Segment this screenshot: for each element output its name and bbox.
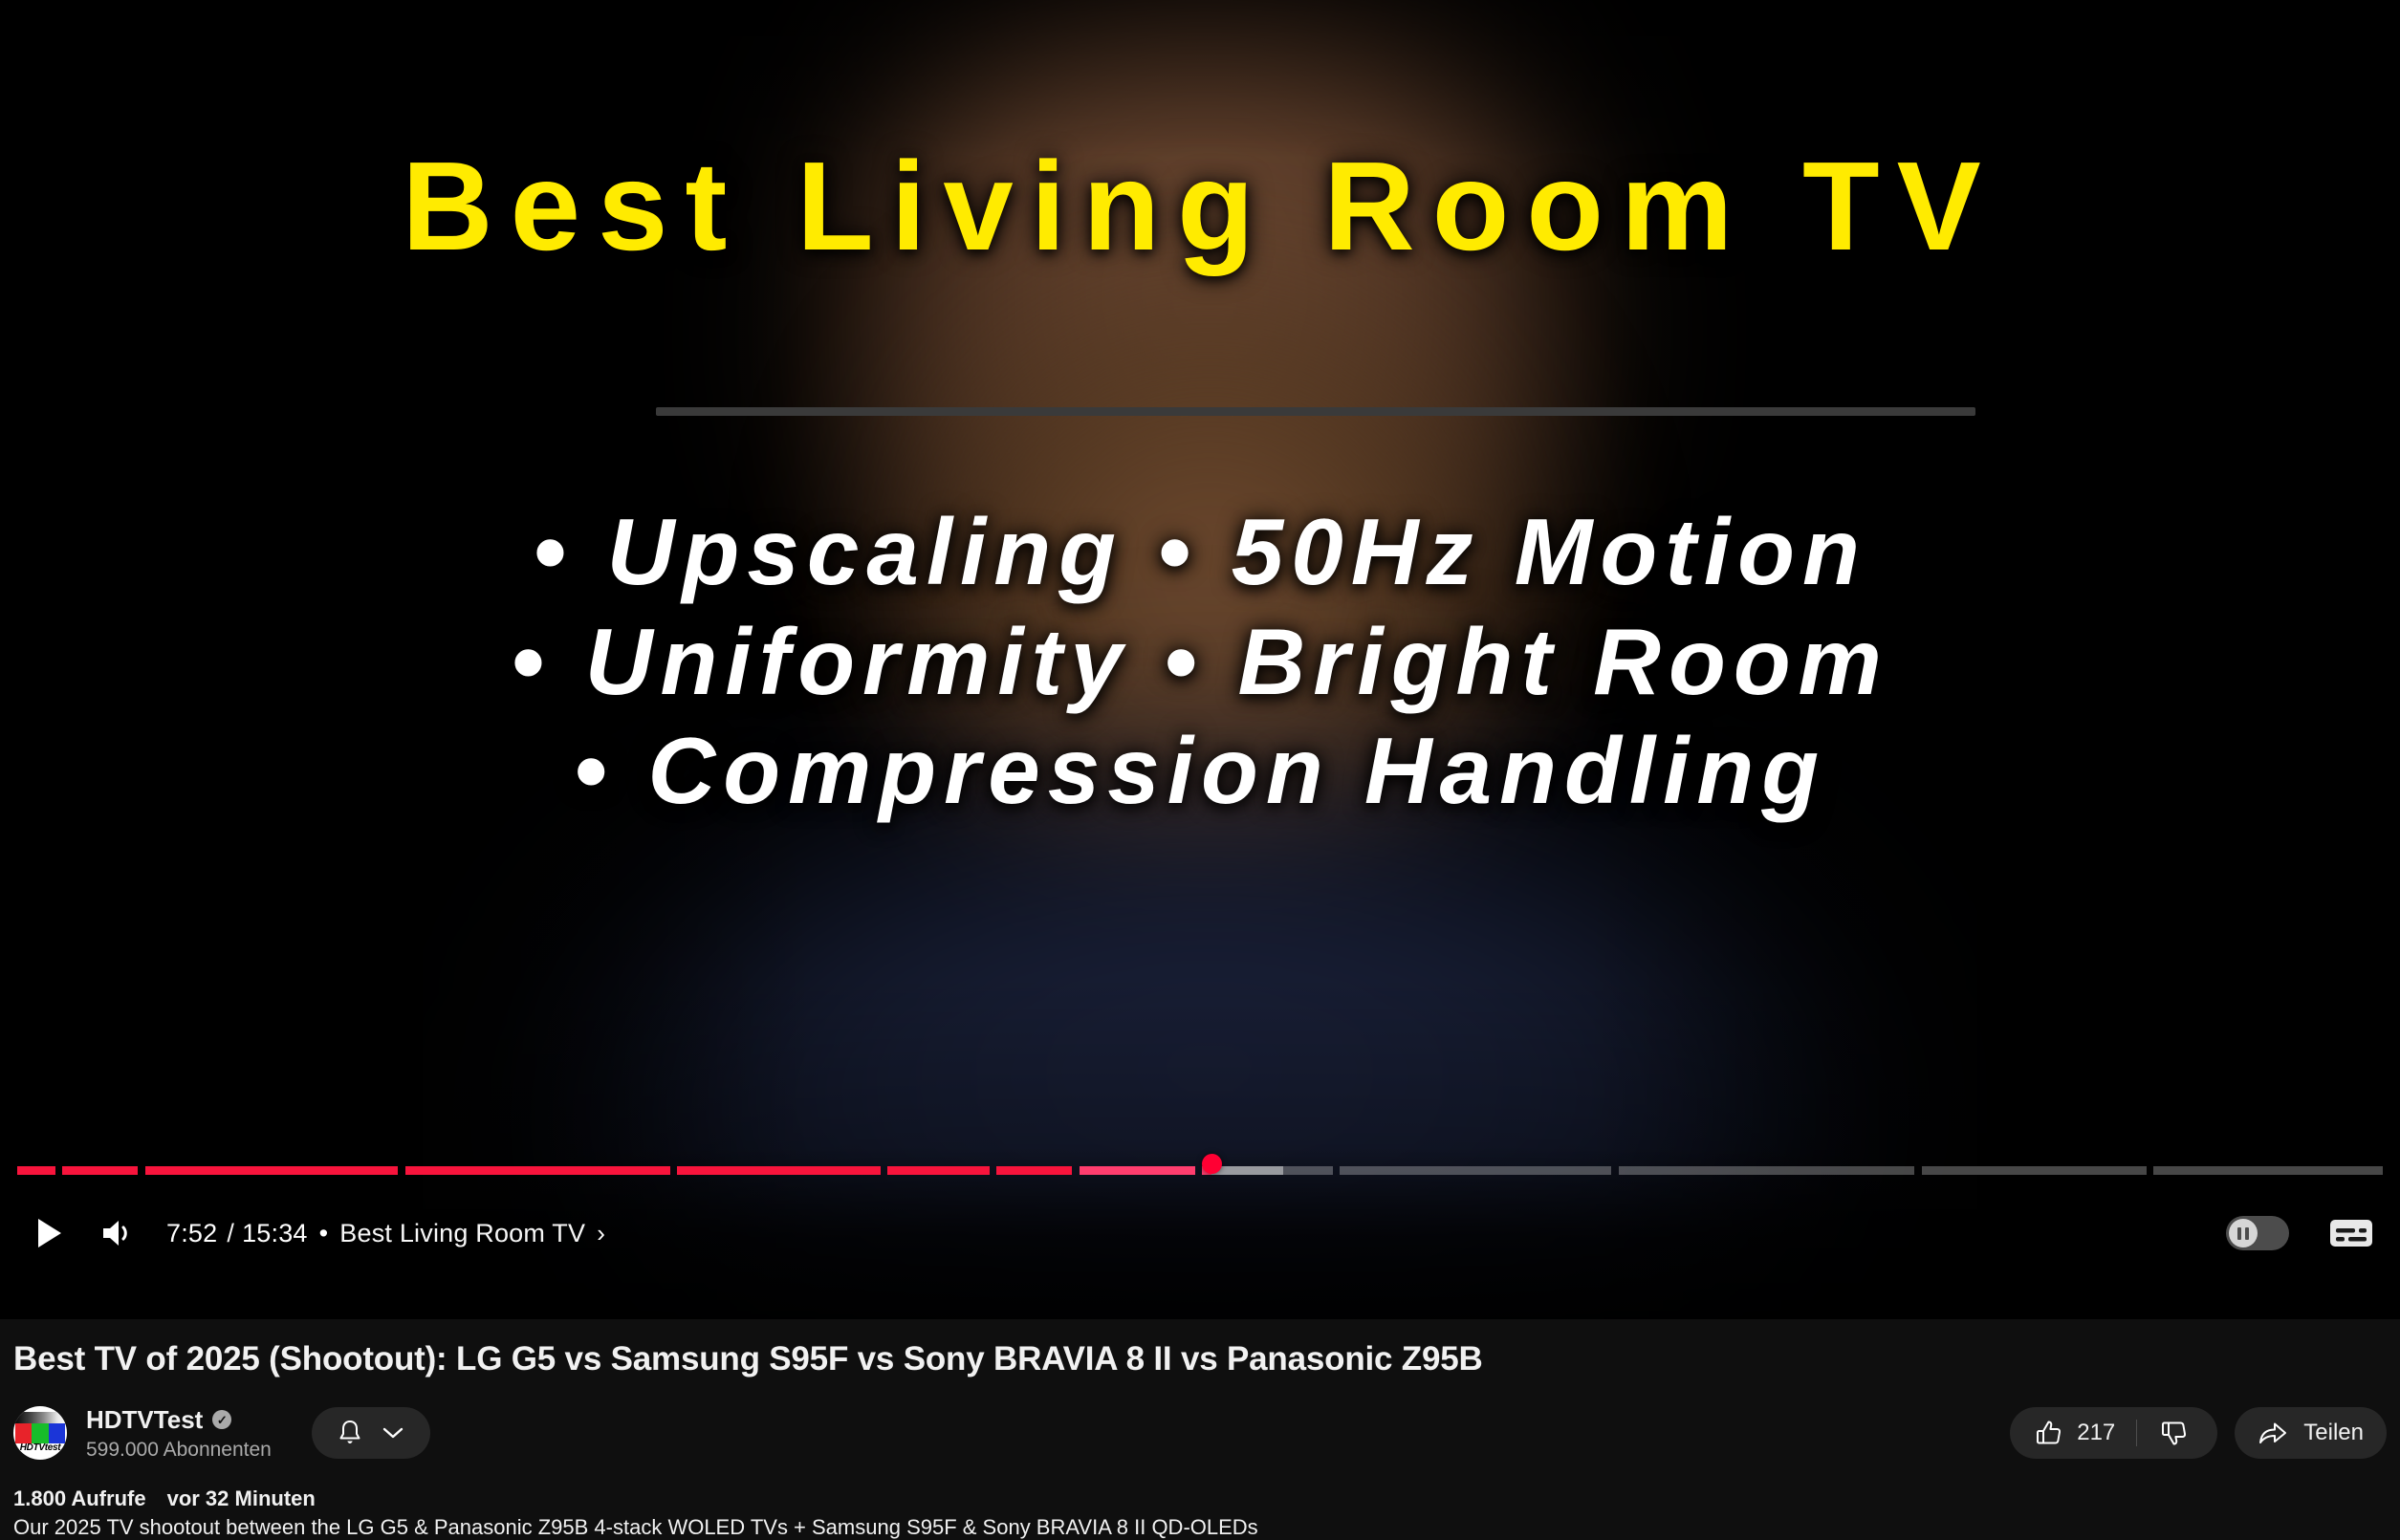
- play-icon[interactable]: [19, 1203, 80, 1264]
- autoplay-toggle[interactable]: [2226, 1216, 2289, 1250]
- video-info-section: Best TV of 2025 (Shootout): LG G5 vs Sam…: [0, 1319, 2400, 1525]
- dislike-button[interactable]: [2137, 1407, 2212, 1459]
- slide-divider: [656, 407, 1975, 416]
- channel-block[interactable]: HDTVtest HDTVTest ✓ 599.000 Abonnenten: [13, 1405, 272, 1462]
- progress-chapter-segment[interactable]: [2153, 1166, 2383, 1175]
- verified-badge-icon: ✓: [212, 1410, 231, 1429]
- view-count: 1.800 Aufrufe: [13, 1486, 146, 1511]
- player-left-controls: 7:52 / 15:34 • Best Living Room TV ›: [0, 1203, 605, 1264]
- video-stats-row: 1.800 Aufrufe vor 32 Minuten: [13, 1486, 316, 1511]
- page-title: Best TV of 2025 (Shootout): LG G5 vs Sam…: [13, 1340, 1483, 1378]
- progress-chapter-segment[interactable]: [996, 1166, 1072, 1175]
- like-dislike-group: 217: [2010, 1407, 2217, 1459]
- share-arrow-icon: [2258, 1420, 2288, 1446]
- progress-chapter-segment[interactable]: [17, 1166, 55, 1175]
- progress-chapter-segment[interactable]: [62, 1166, 138, 1175]
- chapter-title[interactable]: Best Living Room TV: [339, 1219, 585, 1248]
- player-buttons-row: 7:52 / 15:34 • Best Living Room TV ›: [0, 1187, 2400, 1279]
- bullet-separator: •: [319, 1219, 329, 1248]
- progress-chapter-segment[interactable]: [145, 1166, 399, 1175]
- video-slide-overlay: Best Living Room TV • Upscaling • 50Hz M…: [0, 0, 2400, 1319]
- video-description: Our 2025 TV shootout between the LG G5 &…: [13, 1515, 1258, 1540]
- publish-time: vor 32 Minuten: [167, 1486, 316, 1511]
- channel-and-actions-row: HDTVtest HDTVTest ✓ 599.000 Abonnenten: [13, 1394, 2387, 1472]
- slide-bullet-line: • Compression Handling: [0, 716, 2400, 826]
- progress-played: [677, 1166, 881, 1175]
- progress-chapter-segment[interactable]: [1340, 1166, 1612, 1175]
- progress-bar-row[interactable]: [0, 1159, 2400, 1183]
- player-right-controls: [2226, 1204, 2400, 1263]
- progress-chapter-segment[interactable]: [1922, 1166, 2147, 1175]
- chevron-right-icon[interactable]: ›: [597, 1219, 605, 1248]
- progress-chapter-segment[interactable]: [1080, 1166, 1195, 1175]
- progress-bar-track[interactable]: [17, 1166, 2383, 1175]
- action-buttons: 217 Teilen: [2010, 1407, 2387, 1459]
- subscriber-count: 599.000 Abonnenten: [86, 1439, 272, 1462]
- channel-name[interactable]: HDTVTest: [86, 1405, 203, 1435]
- bell-icon: [337, 1419, 363, 1447]
- total-time: 15:34: [242, 1219, 308, 1248]
- chevron-down-icon: [381, 1424, 405, 1442]
- progress-chapter-segment[interactable]: [887, 1166, 989, 1175]
- slide-title: Best Living Room TV: [0, 143, 2400, 270]
- like-button[interactable]: 217: [2016, 1407, 2136, 1459]
- video-player-stage[interactable]: Best Living Room TV • Upscaling • 50Hz M…: [0, 0, 2400, 1319]
- progress-chapter-segment[interactable]: [405, 1166, 670, 1175]
- color-bars-test-pattern-icon: [13, 1412, 67, 1423]
- progress-played: [1080, 1166, 1195, 1175]
- share-button[interactable]: Teilen: [2235, 1407, 2387, 1459]
- like-count: 217: [2077, 1420, 2115, 1446]
- thumbs-down-icon: [2160, 1419, 2189, 1447]
- time-separator: /: [227, 1219, 234, 1248]
- current-time: 7:52: [166, 1219, 217, 1248]
- slide-bullet-line: • Uniformity • Bright Room: [0, 607, 2400, 717]
- subtitles-icon[interactable]: [2322, 1204, 2381, 1263]
- progress-played: [405, 1166, 670, 1175]
- avatar[interactable]: HDTVtest: [13, 1406, 67, 1460]
- pause-icon: [2229, 1219, 2258, 1247]
- progress-played: [887, 1166, 989, 1175]
- volume-icon[interactable]: [88, 1203, 149, 1264]
- slide-bullet-list: • Upscaling • 50Hz Motion • Uniformity •…: [0, 497, 2400, 826]
- progress-chapter-segment[interactable]: [1619, 1166, 1914, 1175]
- notification-settings-button[interactable]: [312, 1407, 430, 1459]
- thumbs-up-icon: [2035, 1419, 2063, 1447]
- progress-played: [62, 1166, 138, 1175]
- progress-played: [145, 1166, 399, 1175]
- slide-bullet-line: • Upscaling • 50Hz Motion: [0, 497, 2400, 607]
- channel-name-row: HDTVTest ✓: [86, 1405, 272, 1435]
- player-control-bar: 7:52 / 15:34 • Best Living Room TV ›: [0, 1147, 2400, 1319]
- share-label: Teilen: [2303, 1420, 2364, 1446]
- progress-played: [17, 1166, 55, 1175]
- channel-text: HDTVTest ✓ 599.000 Abonnenten: [86, 1405, 272, 1462]
- progress-played: [996, 1166, 1072, 1175]
- progress-chapter-segment[interactable]: [1202, 1166, 1332, 1175]
- progress-chapter-segment[interactable]: [677, 1166, 881, 1175]
- time-and-chapter-label: 7:52 / 15:34 • Best Living Room TV ›: [166, 1219, 605, 1248]
- avatar-wordmark: HDTVtest: [13, 1442, 67, 1453]
